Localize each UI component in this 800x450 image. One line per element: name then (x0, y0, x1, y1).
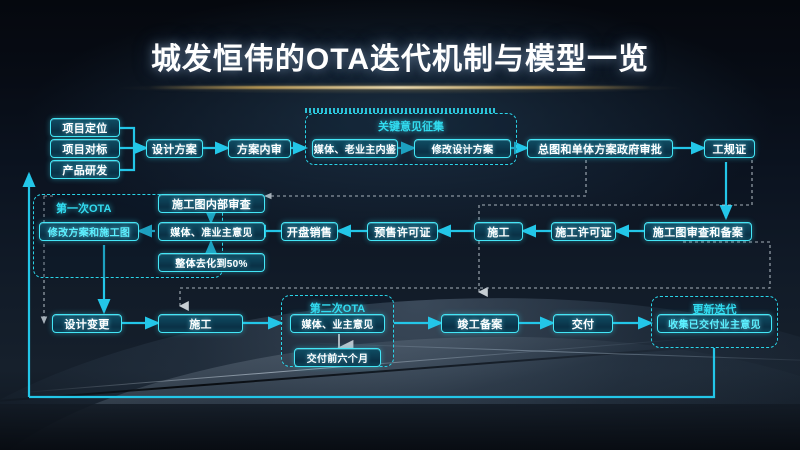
slide-canvas: 城发恒伟的OTA迭代机制与模型一览 (0, 0, 800, 450)
node-revise-plan-and-drawing[interactable]: 修改方案和施工图 (39, 222, 139, 241)
node-collect-delivered-owner-feedback[interactable]: 收集已交付业主意见 (657, 314, 772, 333)
node-presale-permit[interactable]: 预售许可证 (367, 222, 438, 241)
group-key-opinion-label: 关键意见征集 (306, 118, 516, 134)
node-construction-phase1[interactable]: 施工 (474, 222, 523, 241)
node-construction-phase2[interactable]: 施工 (158, 314, 243, 333)
node-media-owner-opinion[interactable]: 媒体、业主意见 (290, 314, 385, 333)
node-revise-design-plan[interactable]: 修改设计方案 (414, 139, 511, 158)
node-project-positioning[interactable]: 项目定位 (50, 118, 120, 137)
node-drawing-review-filing[interactable]: 施工图审查和备案 (644, 222, 752, 241)
node-construction-permit[interactable]: 施工许可证 (551, 222, 616, 241)
node-completion-filing[interactable]: 竣工备案 (441, 314, 519, 333)
node-drawing-internal-review[interactable]: 施工图内部审查 (158, 194, 265, 213)
node-product-rd[interactable]: 产品研发 (50, 160, 120, 179)
node-media-prospective-owner[interactable]: 媒体、准业主意见 (158, 222, 265, 241)
node-delivery[interactable]: 交付 (553, 314, 613, 333)
node-media-old-owner-preview[interactable]: 媒体、老业主内鉴 (312, 139, 398, 158)
node-six-months-before-delivery[interactable]: 交付前六个月 (294, 348, 381, 367)
node-launch-sales[interactable]: 开盘销售 (281, 222, 338, 241)
node-engineering-permit[interactable]: 工规证 (704, 139, 755, 158)
node-design-change[interactable]: 设计变更 (52, 314, 122, 333)
node-project-benchmarking[interactable]: 项目对标 (50, 139, 120, 158)
node-plan-internal-review[interactable]: 方案内审 (228, 139, 291, 158)
node-government-approval[interactable]: 总图和单体方案政府审批 (527, 139, 673, 158)
node-design-plan[interactable]: 设计方案 (146, 139, 203, 158)
node-sell-through-50[interactable]: 整体去化到50% (158, 253, 265, 272)
